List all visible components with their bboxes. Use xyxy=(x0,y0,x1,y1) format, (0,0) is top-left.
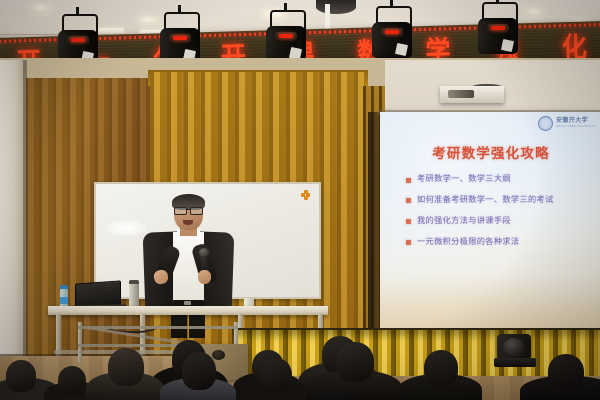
light-indicator xyxy=(491,26,505,30)
light-indicator xyxy=(71,38,85,42)
bullet-text: 我的强化方法与讲课手段 xyxy=(417,216,511,226)
slide-title: 考研数学强化攻略 xyxy=(380,142,600,162)
bullet-square-icon xyxy=(406,219,411,224)
bottle-cap xyxy=(60,285,68,289)
audience-head xyxy=(260,358,292,392)
slide-bullet-item: 如何准备考研数学一、数学三的考试 xyxy=(406,195,592,205)
bullet-text: 如何准备考研数学一、数学三的考试 xyxy=(417,195,554,205)
bullet-square-icon xyxy=(406,178,411,183)
mouth xyxy=(183,220,193,225)
audience-head xyxy=(108,348,144,386)
bullet-text: 一元微积分极限的各种求法 xyxy=(417,237,519,247)
audience-head xyxy=(424,350,458,386)
presenter-table xyxy=(48,306,328,315)
eyeglasses-icon xyxy=(174,207,203,213)
floor-light-lens-icon xyxy=(503,338,525,356)
logo-text: 安徽开大学 ANHUI OPEN UNIVERSITY xyxy=(556,118,596,128)
university-seal-logo: 安徽开大学 ANHUI OPEN UNIVERSITY xyxy=(538,116,596,131)
audience-head xyxy=(336,342,374,382)
bullet-square-icon xyxy=(406,240,411,245)
audience-head xyxy=(6,360,36,392)
speaker-port-icon xyxy=(212,350,225,360)
bottle-label xyxy=(60,297,68,304)
thermos-cap xyxy=(129,280,139,284)
floor-light-base xyxy=(494,358,536,367)
audience-head xyxy=(548,354,584,390)
projector-lens-icon xyxy=(448,90,474,98)
ceiling-downlight xyxy=(30,4,52,13)
ceiling-downlight xyxy=(138,16,158,24)
ceiling-speaker xyxy=(316,0,356,14)
slide-bullet-item: 考研数学一、数学三大纲 xyxy=(406,174,592,184)
hand-right-holding-mic xyxy=(198,270,211,284)
light-indicator xyxy=(385,30,399,34)
ceiling-downlight xyxy=(524,8,544,16)
belt-buckle xyxy=(184,301,191,305)
light-label-tag xyxy=(501,39,514,52)
light-label-tag xyxy=(395,43,408,56)
light-indicator xyxy=(173,36,187,40)
whiteboard-flower-logo-icon xyxy=(301,190,310,199)
logo-en-name: ANHUI OPEN UNIVERSITY xyxy=(556,126,596,129)
bullet-text: 考研数学一、数学三大纲 xyxy=(417,174,511,184)
audience-head xyxy=(58,366,86,396)
slide-bullet-item: 一元微积分极限的各种求法 xyxy=(406,237,592,247)
logo-cn-name: 安徽开大学 xyxy=(556,118,596,124)
audience-head xyxy=(182,352,216,390)
ceiling-light-strip xyxy=(98,28,124,33)
door-frame-edge xyxy=(23,60,27,390)
bullet-square-icon xyxy=(406,198,411,203)
screen-washout-glow xyxy=(380,276,600,334)
slide-bullet-item: 我的强化方法与讲课手段 xyxy=(406,216,592,226)
microphone-icon xyxy=(199,248,209,257)
light-indicator xyxy=(279,34,293,38)
seal-icon xyxy=(538,116,553,131)
slide-bullet-list: 考研数学一、数学三大纲 如何准备考研数学一、数学三的考试 我的强化方法与讲课手段… xyxy=(406,174,592,257)
lecture-hall-photo: 开 一 公 开 课 数 学 强 化 xyxy=(0,0,600,400)
projection-screen: 安徽开大学 ANHUI OPEN UNIVERSITY 考研数学强化攻略 考研数… xyxy=(380,112,600,334)
